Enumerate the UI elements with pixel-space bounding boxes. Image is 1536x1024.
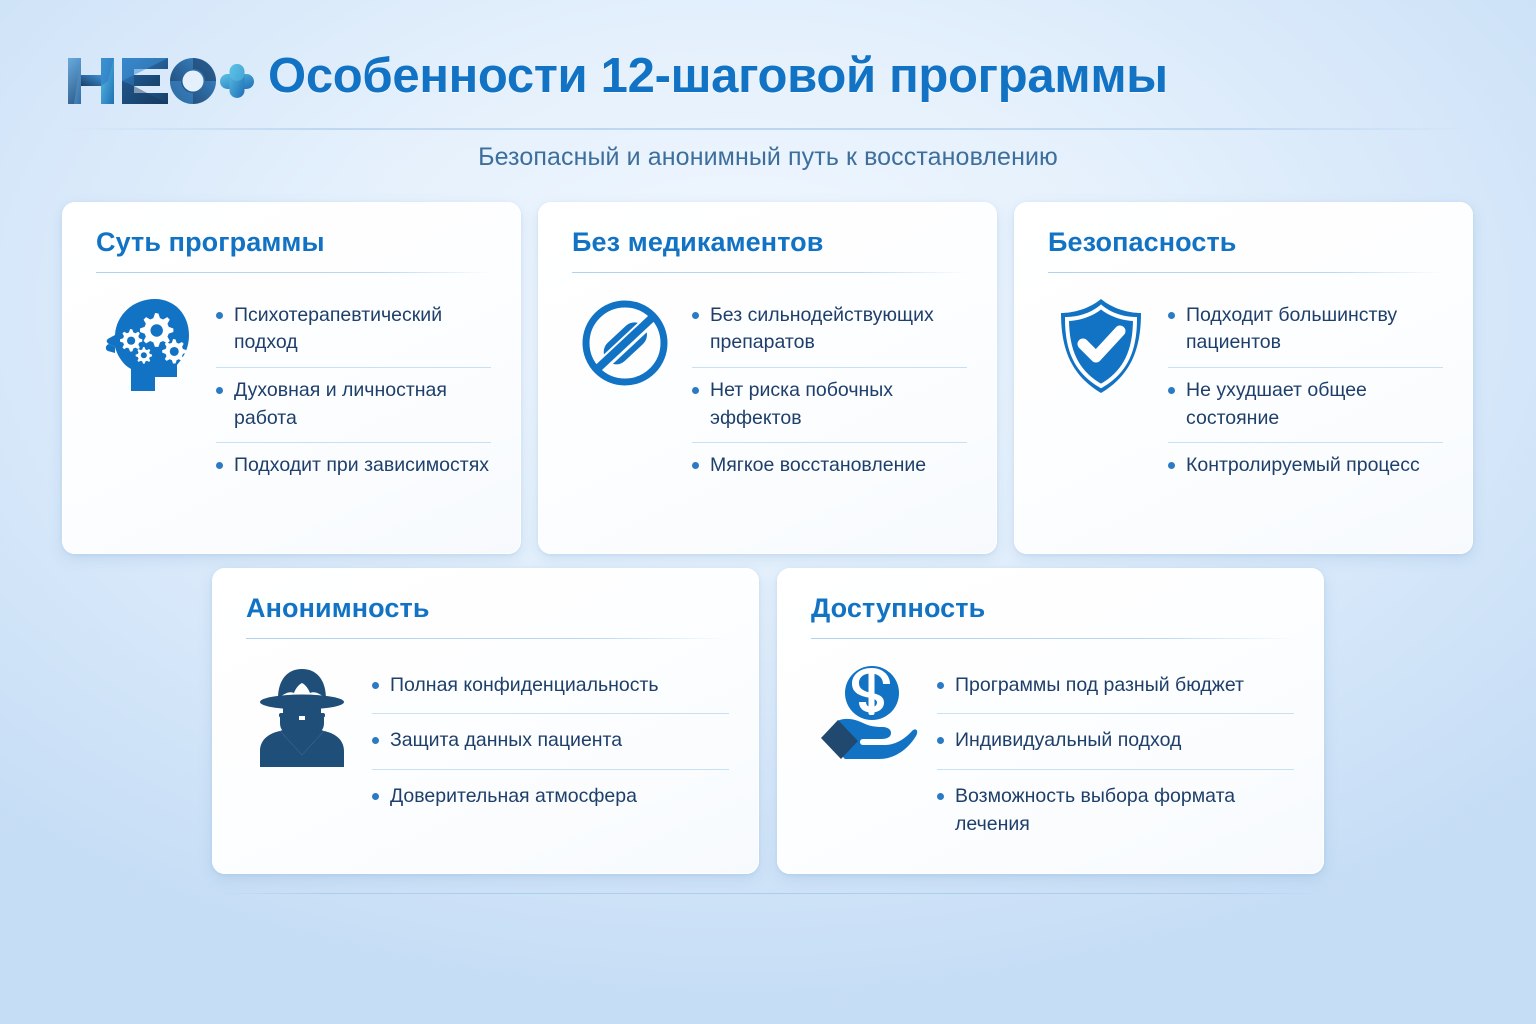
bullet-text: Полная конфиденциальность — [390, 672, 729, 700]
card-bez-medikamentov[interactable]: Без медикаментов — [538, 202, 997, 554]
bullet-dot-icon — [692, 387, 699, 394]
bullet-list: Программы под разный бюджет Индивидуальн… — [937, 657, 1294, 853]
page-header: Особенности 12-шаговой программы Безопас… — [0, 0, 1536, 190]
icon-slot — [572, 291, 678, 389]
bullet-dot-icon — [216, 462, 223, 469]
card-dostupnost[interactable]: Доступность — [777, 568, 1324, 874]
card-title-divider — [246, 638, 729, 639]
bullet-item: Индивидуальный подход — [937, 714, 1294, 770]
bullet-text: Индивидуальный подход — [955, 727, 1294, 755]
bullet-item: Контролируемый процесс — [1168, 443, 1443, 490]
bullet-text: Защита данных пациента — [390, 727, 729, 755]
card-title: Доступность — [811, 594, 1294, 624]
bullet-item: Мягкое восстановление — [692, 443, 967, 490]
neo-plus-logo — [64, 52, 254, 110]
card-anonimnost[interactable]: Анонимность — [212, 568, 759, 874]
bullet-list: Подходит большинству пациентов Не ухудша… — [1168, 291, 1443, 490]
neo-plus-logo-icon — [64, 52, 254, 110]
card-bezopasnost[interactable]: Безопасность Подходит большинству пациен… — [1014, 202, 1473, 554]
shield-check-icon — [1057, 297, 1145, 395]
icon-slot — [811, 657, 923, 763]
bullet-text: Возможность выбора формата лечения — [955, 783, 1294, 838]
footer-divider — [212, 893, 1324, 894]
bullet-text: Без сильнодействующих препаратов — [710, 302, 967, 357]
icon-slot — [1048, 291, 1154, 395]
bullet-dot-icon — [937, 793, 944, 800]
card-title-divider — [811, 638, 1294, 639]
bullet-text: Контролируемый процесс — [1186, 452, 1443, 480]
hand-with-coin-icon — [815, 663, 919, 763]
page-title: Особенности 12-шаговой программы — [268, 48, 1168, 104]
bullet-text: Духовная и личностная работа — [234, 377, 491, 432]
bullet-dot-icon — [372, 793, 379, 800]
header-divider — [60, 128, 1476, 130]
card-title-divider — [572, 272, 967, 273]
bullet-text: Психотерапевтический подход — [234, 302, 491, 357]
bullet-dot-icon — [1168, 387, 1175, 394]
icon-slot — [96, 291, 202, 393]
bullet-item: Полная конфиденциальность — [372, 659, 729, 715]
bullet-item: Духовная и личностная работа — [216, 368, 491, 443]
bullet-dot-icon — [216, 387, 223, 394]
bullet-text: Нет риска побочных эффектов — [710, 377, 967, 432]
cards-row-bottom: Анонимность — [212, 568, 1324, 874]
bullet-item: Нет риска побочных эффектов — [692, 368, 967, 443]
bullet-item: Не ухудшает общее состояние — [1168, 368, 1443, 443]
page-subtitle: Безопасный и анонимный путь к восстановл… — [0, 143, 1536, 172]
card-title: Суть программы — [96, 228, 491, 258]
icon-slot — [246, 657, 358, 767]
bullet-list: Психотерапевтический подход Духовная и л… — [216, 291, 491, 490]
bullet-dot-icon — [937, 737, 944, 744]
bullet-item: Защита данных пациента — [372, 714, 729, 770]
bullet-text: Подходит при зависимостях — [234, 452, 491, 480]
bullet-text: Программы под разный бюджет — [955, 672, 1294, 700]
bullet-dot-icon — [1168, 462, 1175, 469]
bullet-dot-icon — [692, 312, 699, 319]
card-title: Безопасность — [1048, 228, 1443, 258]
head-with-gears-icon — [103, 297, 195, 393]
bullet-dot-icon — [372, 737, 379, 744]
bullet-item: Программы под разный бюджет — [937, 659, 1294, 715]
bullet-text: Мягкое восстановление — [710, 452, 967, 480]
bullet-list: Без сильнодействующих препаратов Нет рис… — [692, 291, 967, 490]
bullet-text: Не ухудшает общее состояние — [1186, 377, 1443, 432]
bullet-dot-icon — [372, 682, 379, 689]
bullet-item: Возможность выбора формата лечения — [937, 770, 1294, 852]
bullet-text: Подходит большинству пациентов — [1186, 302, 1443, 357]
no-pills-icon — [579, 297, 671, 389]
bullet-item: Подходит большинству пациентов — [1168, 293, 1443, 368]
bullet-text: Доверительная атмосфера — [390, 783, 729, 811]
bullet-list: Полная конфиденциальность Защита данных … — [372, 657, 729, 825]
bullet-dot-icon — [692, 462, 699, 469]
bullet-item: Без сильнодействующих препаратов — [692, 293, 967, 368]
card-title-divider — [1048, 272, 1443, 273]
card-title: Без медикаментов — [572, 228, 967, 258]
bullet-dot-icon — [1168, 312, 1175, 319]
card-title-divider — [96, 272, 491, 273]
bullet-dot-icon — [937, 682, 944, 689]
bullet-item: Подходит при зависимостях — [216, 443, 491, 490]
anonymous-person-icon — [252, 663, 352, 767]
infographic-page: Особенности 12-шаговой программы Безопас… — [0, 0, 1536, 1024]
cards-row-top: Суть программы — [62, 202, 1474, 554]
card-sut-programmy[interactable]: Суть программы — [62, 202, 521, 554]
bullet-item: Доверительная атмосфера — [372, 770, 729, 825]
card-title: Анонимность — [246, 594, 729, 624]
bullet-dot-icon — [216, 312, 223, 319]
bullet-item: Психотерапевтический подход — [216, 293, 491, 368]
